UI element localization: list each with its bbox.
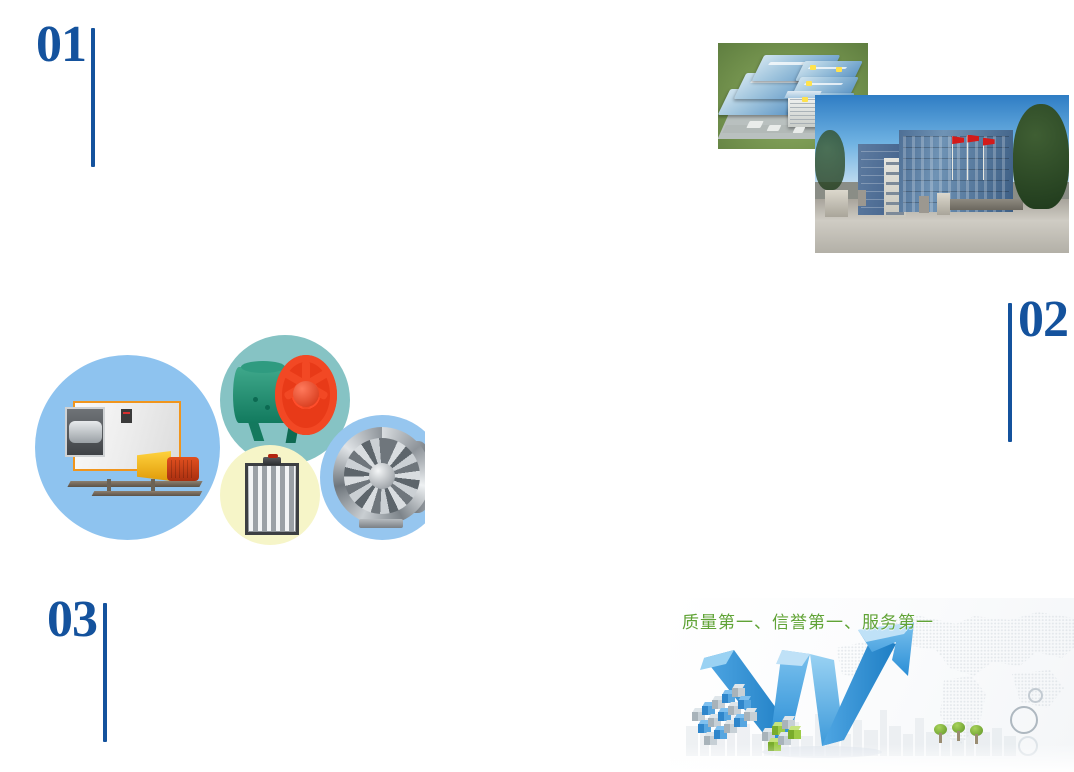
box-fan-control-panel: [121, 409, 132, 423]
section-03-rule: [103, 603, 107, 742]
axial-fan-casing-top: [241, 361, 285, 373]
product-axial-fan: [231, 347, 343, 452]
section-number-03-text: 03: [47, 597, 97, 643]
section-02-rule: [1008, 303, 1012, 442]
metal-fan-mount: [359, 519, 403, 528]
tree-group-graphic: [934, 720, 990, 746]
box-fan-belt-guard: [137, 451, 171, 481]
box-fan-motor: [167, 457, 199, 481]
office-perimeter-wall: [947, 199, 1023, 210]
box-fan-impeller: [69, 421, 102, 443]
office-guard-post: [919, 196, 929, 213]
damper-blades: [249, 466, 295, 531]
office-gate-pillar: [937, 193, 950, 215]
box-fan-base-rail-2: [92, 491, 203, 496]
section-number-01: 01: [36, 22, 95, 167]
office-lamp-post: [858, 190, 866, 206]
factory-marker-4: [836, 67, 842, 72]
factory-marker-3: [802, 97, 808, 102]
factory-marker-1: [810, 65, 816, 70]
metal-fan-hub: [369, 463, 395, 489]
product-photo-cluster: [35, 325, 425, 545]
section-number-03: 03: [47, 597, 107, 742]
slogan-text: 质量第一、信誉第一、服务第一: [682, 608, 934, 633]
section-number-02: 02: [1008, 297, 1068, 442]
banner-reflection: [670, 744, 1074, 772]
office-guard-house: [825, 190, 848, 217]
section-number-01-text: 01: [36, 22, 86, 68]
office-building-photo: [815, 95, 1069, 253]
slogan-growth-banner: 质量第一、信誉第一、服务第一: [670, 598, 1074, 772]
office-tree-right: [1013, 104, 1069, 208]
page-canvas: 01 02 03: [0, 0, 1074, 772]
box-fan-base-rail-1: [67, 481, 202, 487]
box-fan-leg-1: [107, 479, 111, 491]
product-box-fan-unit: [59, 395, 199, 505]
damper-actuator: [263, 457, 281, 465]
office-tree-left: [815, 130, 845, 190]
blue-cube-cluster-graphic: [692, 682, 766, 744]
section-01-rule: [91, 28, 95, 167]
axial-fan-foot-1: [248, 421, 264, 441]
product-air-damper: [241, 457, 303, 537]
box-fan-leg-2: [151, 479, 155, 491]
axial-fan-port-2: [265, 405, 270, 410]
axial-fan-hub: [293, 381, 319, 407]
axial-fan-port-1: [253, 397, 258, 402]
factory-marker-2: [806, 81, 812, 86]
product-metal-axial-fan: [331, 423, 425, 531]
section-number-02-text: 02: [1018, 297, 1068, 343]
